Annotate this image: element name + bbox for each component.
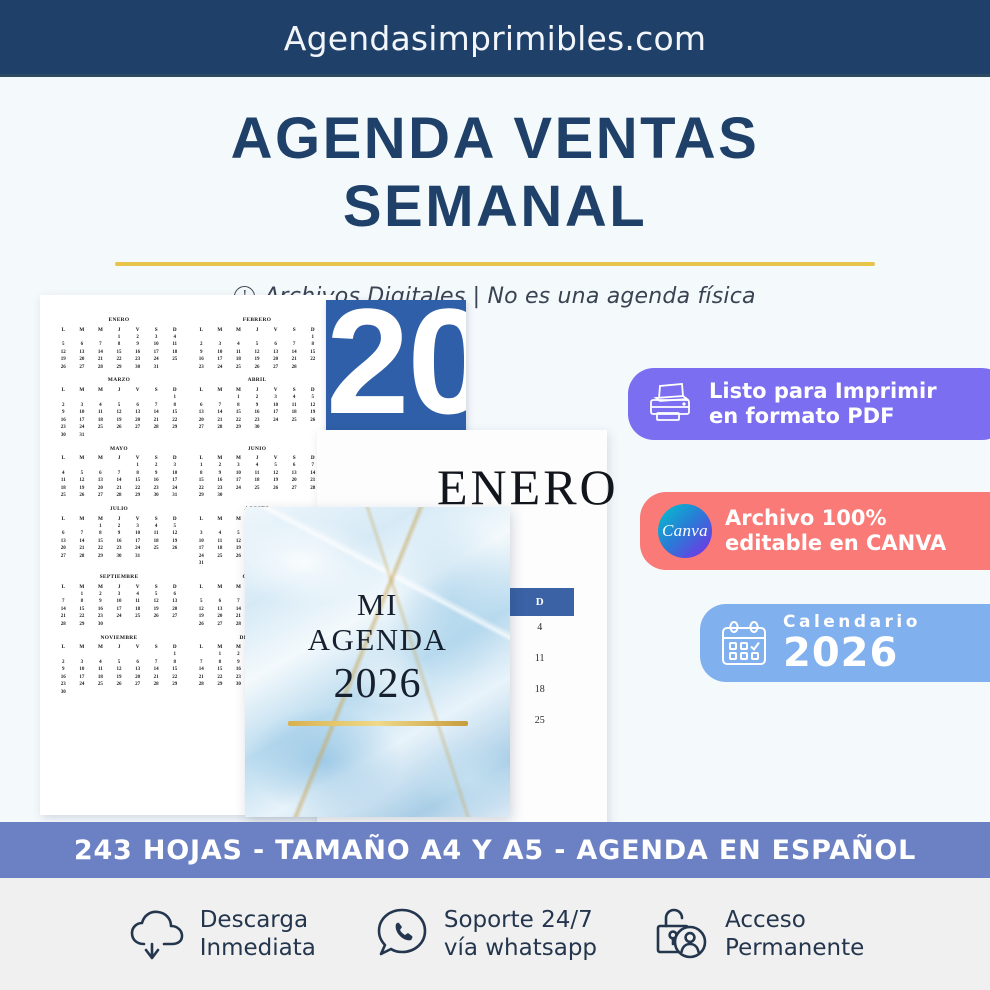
page-title: AGENDA VENTAS SEMANAL (0, 80, 990, 242)
mini-month-dow: LMMJVSD (54, 583, 184, 591)
mini-month-week: 23242526272829 (54, 681, 184, 689)
mini-month-week: 45678910 (54, 470, 184, 478)
mini-month-week: 15161718192021 (192, 477, 322, 485)
mini-month-week: 6789101112 (192, 402, 322, 410)
mini-month: FEBREROLMMJVSD12345678910111213141516171… (192, 317, 322, 371)
weekend-date-cell: 25 (506, 715, 575, 746)
printer-icon (646, 382, 696, 426)
mini-month-dow: LMMJVSD (192, 326, 322, 334)
badge-canva-editable[interactable]: Canva Archivo 100% editable en CANVA (640, 492, 990, 570)
cloud-download-icon (126, 903, 188, 965)
cover-gold-rule (288, 721, 468, 726)
mini-month-week: 232425262728 (192, 364, 322, 372)
mini-month-week: 23242526272829 (54, 424, 184, 432)
mini-month-title: JULIO (54, 506, 184, 512)
weekend-date-cell: 4 (506, 622, 575, 653)
footer-features: Descarga Inmediata Soporte 24/7 vía what… (0, 878, 990, 990)
badge-calendar-text: Calendario 2026 (783, 612, 921, 674)
hero-title-block: AGENDA VENTAS SEMANAL ! Archivos Digital… (0, 80, 990, 309)
mini-month-week: 1234567 (192, 462, 322, 470)
feature-support-label: Soporte 24/7 vía whatsapp (444, 906, 597, 962)
weekend-col-label: D (506, 588, 575, 616)
weekend-date-cell: 18 (506, 684, 575, 715)
mini-month-week: 11121314151617 (54, 477, 184, 485)
mini-month-week: 1 (192, 334, 322, 342)
whatsapp-phone-icon (372, 904, 432, 964)
feature-permanent-access: Acceso Permanente (653, 904, 864, 964)
mini-month-week: 1234 (54, 334, 184, 342)
mini-month-week: 9101112131415 (54, 666, 184, 674)
mini-month: MARZOLMMJVSD1234567891011121314151617181… (54, 377, 184, 439)
mini-month: SEPTIEMBRELMMJVSD12345678910111213141516… (54, 574, 184, 628)
mini-month-week: 16171819202122 (54, 674, 184, 682)
feature-download-line2: Inmediata (200, 934, 316, 962)
cover-line2: AGENDA (245, 622, 510, 657)
mini-month-week: 2345678 (54, 659, 184, 667)
mini-month-week: 20212223242526 (54, 545, 184, 553)
mini-month-week: 2345678 (192, 341, 322, 349)
mini-month-week: 123456 (54, 591, 184, 599)
mini-month-week: 123 (54, 462, 184, 470)
mini-month-week: 2930 (192, 492, 322, 500)
feature-download-label: Descarga Inmediata (200, 906, 316, 962)
mini-month-week: 14151617181920 (54, 606, 184, 614)
mini-month-week: 25262728293031 (54, 492, 184, 500)
feature-access-line1: Acceso (725, 906, 864, 934)
weekend-date-cell (506, 746, 575, 777)
mini-month-week: 19202122232425 (54, 356, 184, 364)
mini-month-title: ENERO (54, 317, 184, 323)
mini-month-dow: LMMJVSD (192, 454, 322, 462)
page-title-line1: AGENDA VENTAS (0, 105, 990, 173)
mini-month-week: 2345678 (54, 402, 184, 410)
mini-month-week: 18192021222324 (54, 485, 184, 493)
mini-month: MAYOLMMJVSD12345678910111213141516171819… (54, 446, 184, 500)
mini-month-title: FEBRERO (192, 317, 322, 323)
mini-month-week: 891011121314 (192, 470, 322, 478)
canva-wordmark: Canva (662, 521, 708, 541)
cover-year: 2026 (245, 660, 510, 710)
feature-instant-download: Descarga Inmediata (126, 903, 316, 965)
page-title-line2: SEMANAL (0, 173, 990, 241)
canva-logo-icon: Canva (658, 504, 712, 558)
specs-band: 243 HOJAS - TAMAÑO A4 Y A5 - AGENDA EN E… (0, 822, 990, 878)
badge-canva-line2: editable en CANVA (725, 531, 946, 556)
badge-canva-line1: Archivo 100% (725, 506, 946, 531)
feature-access-label: Acceso Permanente (725, 906, 864, 962)
badge-print-text: Listo para Imprimir en formato PDF (709, 379, 937, 429)
unlock-user-icon (653, 904, 713, 964)
mini-month-week: 16171819202122 (192, 356, 322, 364)
mini-month-dow: LMMJVSD (54, 515, 184, 523)
mini-month-week: 3031 (54, 432, 184, 440)
weekend-date-cell: 11 (506, 653, 575, 684)
feature-support-line1: Soporte 24/7 (444, 906, 597, 934)
mini-month-week: 9101112131415 (192, 349, 322, 357)
mini-month-week: 262728293031 (54, 364, 184, 372)
mini-month-title: NOVIEMBRE (54, 635, 184, 641)
gold-divider (115, 262, 875, 266)
product-banner: Agendasimprimibles.com AGENDA VENTAS SEM… (0, 0, 990, 990)
year-tab-number: 2026 (326, 300, 466, 430)
mini-month-dow: LMMJVSD (54, 643, 184, 651)
mini-month: JULIOLMMJVSD1234567891011121314151617181… (54, 506, 184, 568)
mini-month-week: 16171819202122 (54, 417, 184, 425)
mini-month: JUNIOLMMJVSD1234567891011121314151617181… (192, 446, 322, 500)
mini-month-dow: LMMJVSD (54, 386, 184, 394)
mini-month-title: JUNIO (192, 446, 322, 452)
mini-month-week: 12345 (54, 523, 184, 531)
feature-access-line2: Permanente (725, 934, 864, 962)
mini-month-week: 9101112131415 (54, 409, 184, 417)
mini-month-dow: LMMJVSD (192, 386, 322, 394)
feature-download-line1: Descarga (200, 906, 316, 934)
mini-month-week: 13141516171819 (54, 538, 184, 546)
cover-line1: MI (245, 587, 510, 622)
site-header: Agendasimprimibles.com (0, 0, 990, 77)
badge-canva-text: Archivo 100% editable en CANVA (725, 506, 946, 556)
feature-support-line2: vía whatsapp (444, 934, 597, 962)
badge-calendar-year[interactable]: Calendario 2026 (700, 604, 990, 682)
badge-calendar-label: Calendario (783, 612, 921, 632)
badge-print-line2: en formato PDF (709, 404, 937, 429)
mini-month: ENEROLMMJVSD1234567891011121314151617181… (54, 317, 184, 371)
mini-month-week: 13141516171819 (192, 409, 322, 417)
mini-month-title: MARZO (54, 377, 184, 383)
mini-month-week: 21222324252627 (54, 613, 184, 621)
mini-month-week: 1 (54, 394, 184, 402)
mini-month-title: MAYO (54, 446, 184, 452)
mini-month-week: 12131415161718 (54, 349, 184, 357)
calendar-icon (718, 617, 770, 669)
mini-month-dow: LMMJVSD (54, 326, 184, 334)
mini-month-week: 12345 (192, 394, 322, 402)
mini-month: NOVIEMBRELMMJVSD123456789101112131415161… (54, 635, 184, 697)
specs-band-text: 243 HOJAS - TAMAÑO A4 Y A5 - AGENDA EN E… (74, 835, 916, 866)
mini-month-week: 30 (54, 689, 184, 697)
badge-print-line1: Listo para Imprimir (709, 379, 937, 404)
mini-month-week: 567891011 (54, 341, 184, 349)
mini-month-week: 282930 (54, 621, 184, 629)
badge-print-ready[interactable]: Listo para Imprimir en formato PDF (628, 368, 990, 440)
mini-month: ABRILLMMJVSD1234567891011121314151617181… (192, 377, 322, 439)
mini-month-title: SEPTIEMBRE (54, 574, 184, 580)
mini-month-week: 20212223242526 (192, 417, 322, 425)
agenda-cover: MI AGENDA 2026 (245, 507, 510, 817)
header-divider (0, 74, 990, 77)
mini-month-week: 22232425262728 (192, 485, 322, 493)
mini-month-dow: LMMJVSD (54, 454, 184, 462)
mini-month-week: 6789101112 (54, 530, 184, 538)
mini-month-week: 2728293031 (54, 553, 184, 561)
feature-whatsapp-support: Soporte 24/7 vía whatsapp (372, 904, 597, 964)
cover-text-block: MI AGENDA 2026 (245, 587, 510, 726)
mini-month-week: 1 (54, 651, 184, 659)
mini-month-title: ABRIL (192, 377, 322, 383)
badge-calendar-year-value: 2026 (783, 632, 921, 674)
site-name: Agendasimprimibles.com (284, 19, 706, 58)
mini-month-week: 78910111213 (54, 598, 184, 606)
mini-month-week: 27282930 (192, 424, 322, 432)
